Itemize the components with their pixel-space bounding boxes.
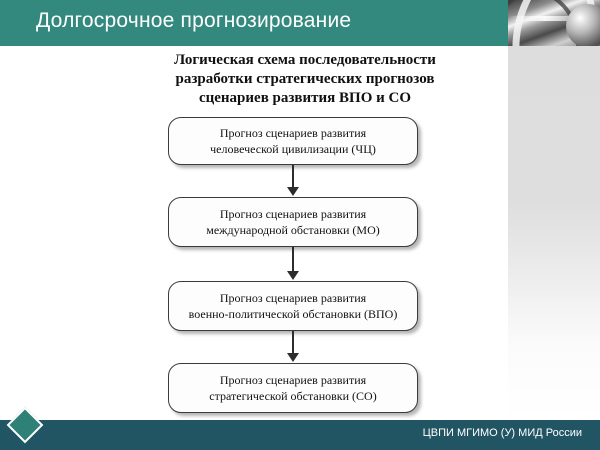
header-decorative-photo	[508, 0, 600, 46]
header-bar: Долгосрочное прогнозирование	[0, 0, 508, 46]
flow-node-vpo-line-1: Прогноз сценариев развития	[220, 290, 366, 306]
footer-bar: ЦВПИ МГИМО (У) МИД России	[0, 420, 600, 450]
content-heading: Логическая схема последовательности разр…	[118, 51, 492, 108]
flow-node-so-line-2: стратегической обстановки (СО)	[209, 388, 376, 404]
content-heading-line-2: разработки стратегических прогнозов	[118, 70, 492, 89]
flow-node-so-line-1: Прогноз сценариев развития	[220, 372, 366, 388]
arrow-down-icon-3	[287, 353, 299, 362]
content-heading-line-3: сценариев развития ВПО и СО	[118, 89, 492, 108]
flow-node-so[interactable]: Прогноз сценариев развития стратегическо…	[168, 363, 418, 413]
arrow-down-icon-1	[287, 187, 299, 196]
arrow-down-icon-2	[287, 271, 299, 280]
slide-canvas: Долгосрочное прогнозирование Логическая …	[0, 0, 600, 450]
right-side-panel	[508, 46, 600, 420]
flow-node-mo-line-1: Прогноз сценариев развития	[220, 206, 366, 222]
flow-node-chc-line-2: человеческой цивилизации (ЧЦ)	[210, 141, 376, 157]
flowchart: Прогноз сценариев развития человеческой …	[168, 117, 424, 417]
footer-attribution: ЦВПИ МГИМО (У) МИД России	[423, 427, 582, 439]
connector-line-3	[292, 331, 294, 355]
page-title: Долгосрочное прогнозирование	[36, 9, 496, 33]
flow-node-chc[interactable]: Прогноз сценариев развития человеческой …	[168, 117, 418, 165]
flow-node-vpo[interactable]: Прогноз сценариев развития военно-полити…	[168, 281, 418, 331]
connector-line-1	[292, 165, 294, 189]
connector-line-2	[292, 247, 294, 273]
flow-node-chc-line-1: Прогноз сценариев развития	[220, 125, 366, 141]
photo-sphere	[566, 4, 600, 46]
flow-node-mo-line-2: международной обстановки (МО)	[206, 222, 379, 238]
content-heading-line-1: Логическая схема последовательности	[118, 51, 492, 70]
flow-node-vpo-line-2: военно-политической обстановки (ВПО)	[189, 306, 398, 322]
flow-node-mo[interactable]: Прогноз сценариев развития международной…	[168, 197, 418, 247]
